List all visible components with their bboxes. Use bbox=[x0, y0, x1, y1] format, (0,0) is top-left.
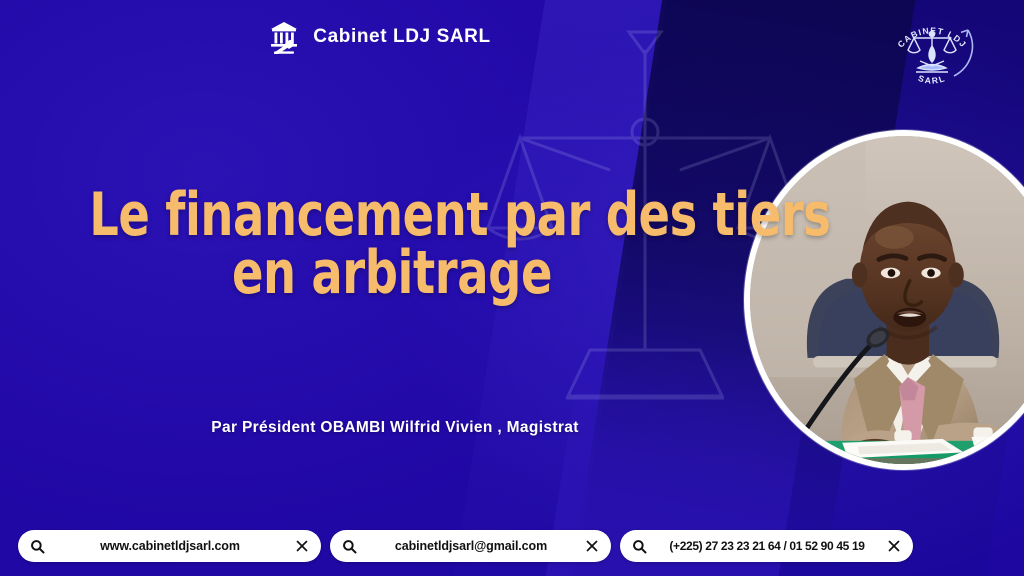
poster-canvas: Cabinet LDJ SARL CABINET LDJ SARL bbox=[0, 0, 1024, 576]
contact-value-email: cabinetldjsarl@gmail.com bbox=[365, 539, 577, 553]
search-icon bbox=[632, 539, 647, 554]
contact-bar: www.cabinetldjsarl.com cabinetldjsarl@gm… bbox=[0, 528, 1024, 564]
contact-field-email[interactable]: cabinetldjsarl@gmail.com bbox=[330, 530, 611, 562]
brand-name: Cabinet LDJ SARL bbox=[313, 26, 490, 48]
contact-value-phone: (+225) 27 23 23 21 64 / 01 52 90 45 19 bbox=[655, 539, 879, 553]
search-icon bbox=[30, 539, 45, 554]
contact-field-phone[interactable]: (+225) 27 23 23 21 64 / 01 52 90 45 19 bbox=[620, 530, 913, 562]
title-line-2: en arbitrage bbox=[89, 244, 694, 302]
close-icon[interactable] bbox=[585, 539, 599, 553]
search-icon bbox=[342, 539, 357, 554]
page-title: Le financement par des tiers en arbitrag… bbox=[0, 186, 784, 302]
contact-value-website: www.cabinetldjsarl.com bbox=[53, 539, 287, 553]
header-brand: Cabinet LDJ SARL bbox=[0, 0, 760, 74]
cabinet-ldj-seal-icon: CABINET LDJ SARL bbox=[880, 6, 984, 92]
contact-field-website[interactable]: www.cabinetldjsarl.com bbox=[18, 530, 321, 562]
close-icon[interactable] bbox=[887, 539, 901, 553]
close-icon[interactable] bbox=[295, 539, 309, 553]
svg-text:SARL: SARL bbox=[917, 73, 947, 86]
courthouse-gavel-icon bbox=[269, 20, 299, 54]
speaker-byline: Par Président OBAMBI Wilfrid Vivien , Ma… bbox=[0, 419, 790, 437]
